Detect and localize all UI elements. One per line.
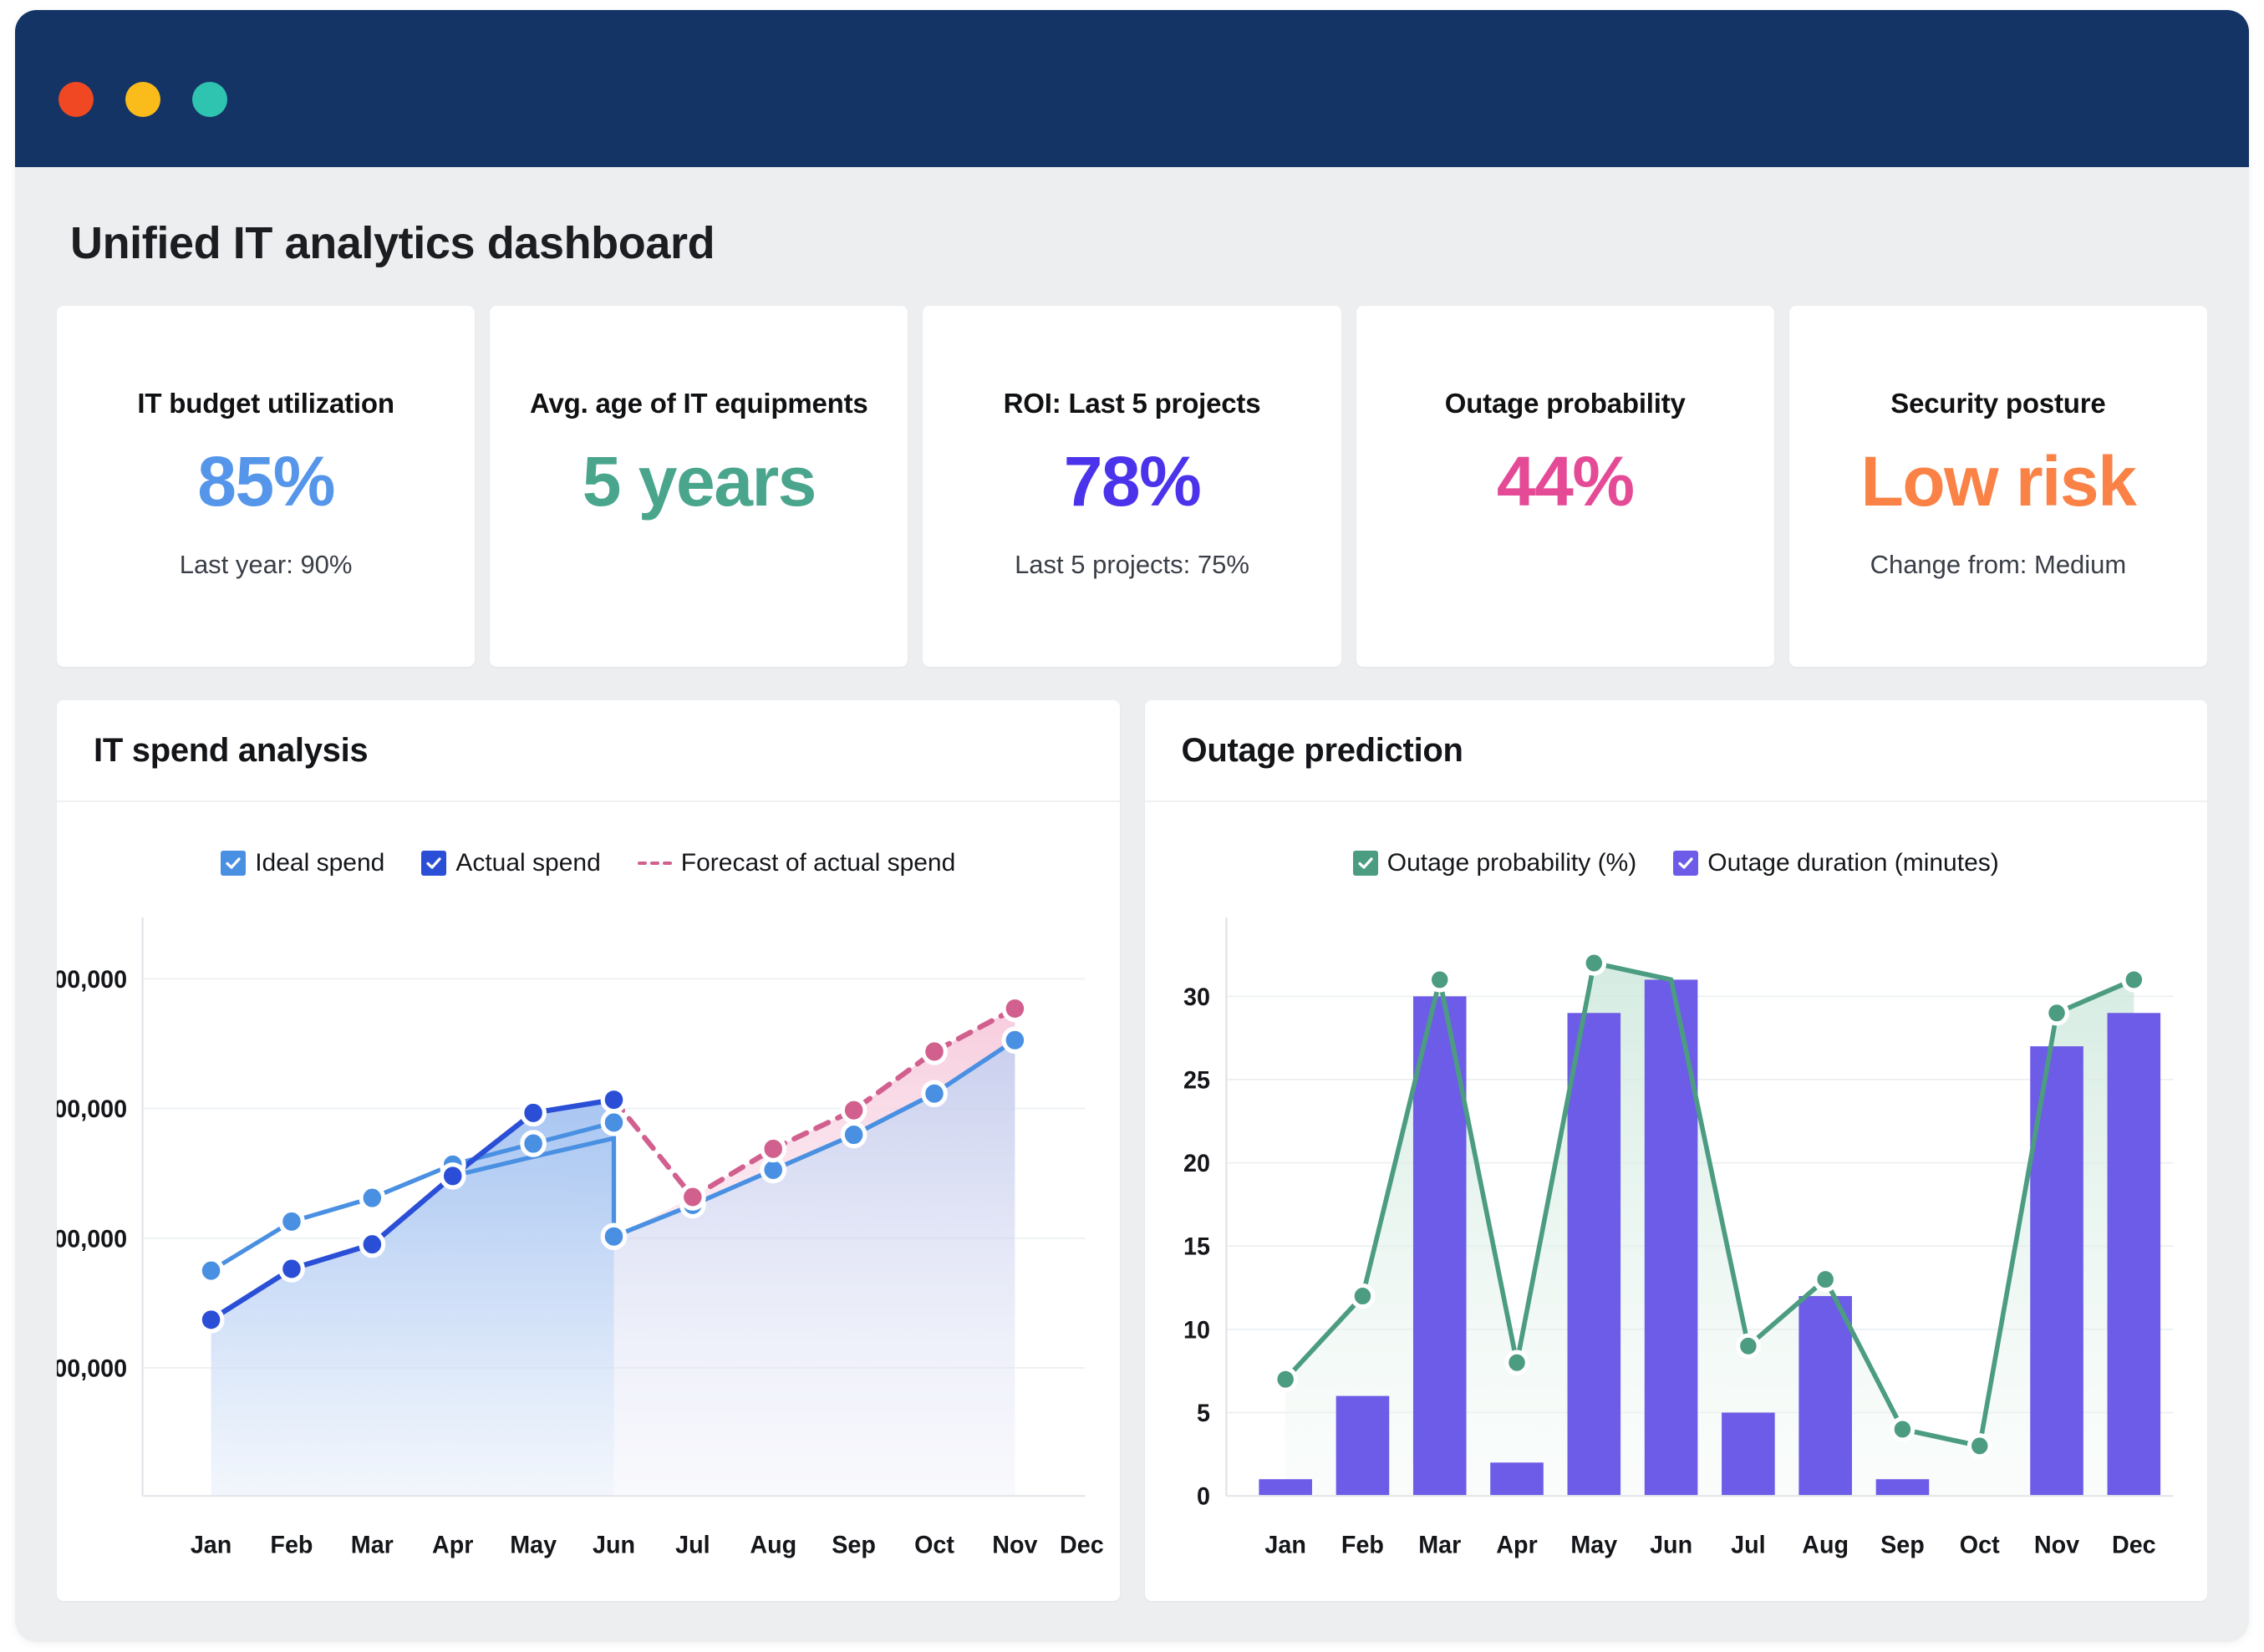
- svg-text:Oct: Oct: [1959, 1532, 1999, 1558]
- chart-legend-outage: Outage probability (%) Outage duration (…: [1145, 802, 2208, 882]
- kpi-value: Low risk: [1861, 446, 2136, 516]
- window-controls: [59, 82, 227, 117]
- plot-area-it-spend: $400,000 $300,000 $200,000 $100,000: [57, 882, 1120, 1601]
- legend-label: Ideal spend: [255, 849, 384, 877]
- legend-label: Outage duration (minutes): [1707, 849, 1999, 877]
- svg-text:30: 30: [1183, 984, 1209, 1011]
- legend-label: Forecast of actual spend: [681, 849, 956, 877]
- bar-may: [1567, 1013, 1620, 1496]
- svg-text:10: 10: [1183, 1317, 1209, 1344]
- svg-text:Dec: Dec: [2111, 1532, 2155, 1558]
- legend-item-forecast-of-actual-spend[interactable]: Forecast of actual spend: [638, 849, 956, 877]
- kpi-subtext: Change from: Medium: [1870, 550, 2127, 580]
- svg-text:Feb: Feb: [270, 1532, 313, 1558]
- svg-text:Sep: Sep: [832, 1532, 876, 1558]
- svg-text:Jan: Jan: [1264, 1532, 1305, 1558]
- svg-text:Aug: Aug: [1802, 1532, 1849, 1558]
- svg-text:$200,000: $200,000: [57, 1226, 127, 1253]
- bar-apr: [1490, 1462, 1544, 1496]
- y-tick-labels-outage: 30 25 20 15 10 5 0: [1183, 984, 1209, 1511]
- svg-text:Jun: Jun: [593, 1532, 635, 1558]
- x-tick-labels-it-spend: Jan Feb Mar Apr May Jun Jul Aug Sep Oct …: [191, 1532, 1104, 1558]
- kpi-label: Outage probability: [1445, 388, 1686, 419]
- kpi-card-it-budget-utilization[interactable]: IT budget utilization 85% Last year: 90%: [57, 306, 475, 667]
- kpi-subtext: Last year: 90%: [180, 550, 353, 580]
- svg-text:$300,000: $300,000: [57, 1096, 127, 1123]
- close-dot[interactable]: [59, 82, 94, 117]
- svg-text:$400,000: $400,000: [57, 967, 127, 994]
- svg-text:Sep: Sep: [1880, 1532, 1925, 1558]
- svg-text:Nov: Nov: [992, 1532, 1038, 1558]
- y-tick-labels: $400,000 $300,000 $200,000 $100,000: [57, 967, 127, 1383]
- svg-text:15: 15: [1183, 1233, 1209, 1260]
- svg-text:0: 0: [1196, 1483, 1209, 1510]
- svg-text:Jul: Jul: [675, 1532, 710, 1558]
- app-window: Unified IT analytics dashboard IT budget…: [15, 10, 2249, 1642]
- kpi-card-outage-probability[interactable]: Outage probability 44%: [1356, 306, 1774, 667]
- svg-text:Apr: Apr: [1496, 1532, 1537, 1558]
- chart-legend-it-spend: Ideal spend Actual spend Forecast of act…: [57, 802, 1120, 882]
- svg-text:Apr: Apr: [432, 1532, 473, 1558]
- legend-label: Outage probability (%): [1387, 849, 1636, 877]
- bar-aug: [1798, 1296, 1852, 1496]
- kpi-value: 5 years: [583, 446, 816, 516]
- kpi-card-security-posture[interactable]: Security posture Low risk Change from: M…: [1789, 306, 2207, 667]
- svg-text:Oct: Oct: [914, 1532, 954, 1558]
- dashboard-body: Unified IT analytics dashboard IT budget…: [15, 167, 2249, 1601]
- kpi-label: IT budget utilization: [137, 388, 394, 419]
- kpi-card-avg-age-of-it-equipments[interactable]: Avg. age of IT equipments 5 years: [490, 306, 908, 667]
- chart-card-outage-prediction: Outage prediction Outage probability (%)…: [1145, 700, 2208, 1601]
- svg-text:May: May: [1570, 1532, 1617, 1558]
- svg-text:Jan: Jan: [191, 1532, 231, 1558]
- window-titlebar: [15, 10, 2249, 167]
- kpi-value: 44%: [1497, 446, 1634, 516]
- chart-title: Outage prediction: [1182, 732, 1463, 770]
- chart-header: IT spend analysis: [57, 700, 1120, 802]
- bar-feb: [1336, 1396, 1389, 1497]
- svg-text:Jun: Jun: [1650, 1532, 1692, 1558]
- legend-item-outage-duration[interactable]: Outage duration (minutes): [1673, 849, 1999, 877]
- kpi-label: Avg. age of IT equipments: [530, 388, 868, 419]
- kpi-label: ROI: Last 5 projects: [1004, 388, 1261, 419]
- kpi-value: 78%: [1064, 446, 1201, 516]
- checkbox-checked-icon[interactable]: [221, 851, 246, 876]
- kpi-label: Security posture: [1890, 388, 2105, 419]
- svg-text:Mar: Mar: [1418, 1532, 1461, 1558]
- checkbox-checked-icon[interactable]: [1353, 851, 1378, 876]
- checkbox-checked-icon[interactable]: [421, 851, 446, 876]
- legend-item-outage-probability[interactable]: Outage probability (%): [1353, 849, 1636, 877]
- kpi-value: 85%: [197, 446, 334, 516]
- chart-header: Outage prediction: [1145, 700, 2208, 802]
- svg-text:25: 25: [1183, 1067, 1209, 1094]
- bar-dec: [2107, 1013, 2160, 1496]
- svg-text:5: 5: [1196, 1400, 1209, 1427]
- legend-label: Actual spend: [455, 849, 600, 877]
- area-outage-probability: [1285, 963, 2134, 1496]
- outage-svg: 30 25 20 15 10 5 0: [1145, 882, 2208, 1601]
- bar-jul: [1722, 1413, 1775, 1497]
- legend-item-actual-spend[interactable]: Actual spend: [421, 849, 600, 877]
- chart-card-row: IT spend analysis Ideal spend Actual spe…: [50, 667, 2214, 1601]
- bar-sep: [1875, 1479, 1929, 1496]
- it-spend-svg: $400,000 $300,000 $200,000 $100,000: [57, 882, 1120, 1601]
- kpi-subtext: Last 5 projects: 75%: [1015, 550, 1249, 580]
- svg-text:May: May: [510, 1532, 557, 1558]
- chart-card-it-spend-analysis: IT spend analysis Ideal spend Actual spe…: [57, 700, 1120, 1601]
- page-title: Unified IT analytics dashboard: [50, 167, 2214, 306]
- svg-text:$100,000: $100,000: [57, 1355, 127, 1382]
- minimize-dot[interactable]: [125, 82, 160, 117]
- dashed-line-icon: [638, 862, 672, 865]
- chart-title: IT spend analysis: [94, 732, 368, 770]
- svg-text:Nov: Nov: [2033, 1532, 2079, 1558]
- kpi-card-roi-last-5-projects[interactable]: ROI: Last 5 projects 78% Last 5 projects…: [923, 306, 1341, 667]
- checkbox-checked-icon[interactable]: [1673, 851, 1698, 876]
- kpi-card-row: IT budget utilization 85% Last year: 90%…: [50, 306, 2214, 667]
- maximize-dot[interactable]: [192, 82, 227, 117]
- svg-text:Aug: Aug: [750, 1532, 796, 1558]
- svg-text:20: 20: [1183, 1151, 1209, 1177]
- plot-area-outage: 30 25 20 15 10 5 0: [1145, 882, 2208, 1601]
- svg-text:Dec: Dec: [1060, 1532, 1104, 1558]
- svg-text:Jul: Jul: [1731, 1532, 1765, 1558]
- x-tick-labels-outage: Jan Feb Mar Apr May Jun Jul Aug Sep Oct …: [1264, 1532, 2155, 1558]
- legend-item-ideal-spend[interactable]: Ideal spend: [221, 849, 384, 877]
- svg-text:Mar: Mar: [351, 1532, 394, 1558]
- svg-text:Feb: Feb: [1341, 1532, 1383, 1558]
- area-actual-upper: [211, 1100, 614, 1496]
- bar-jan: [1259, 1479, 1312, 1496]
